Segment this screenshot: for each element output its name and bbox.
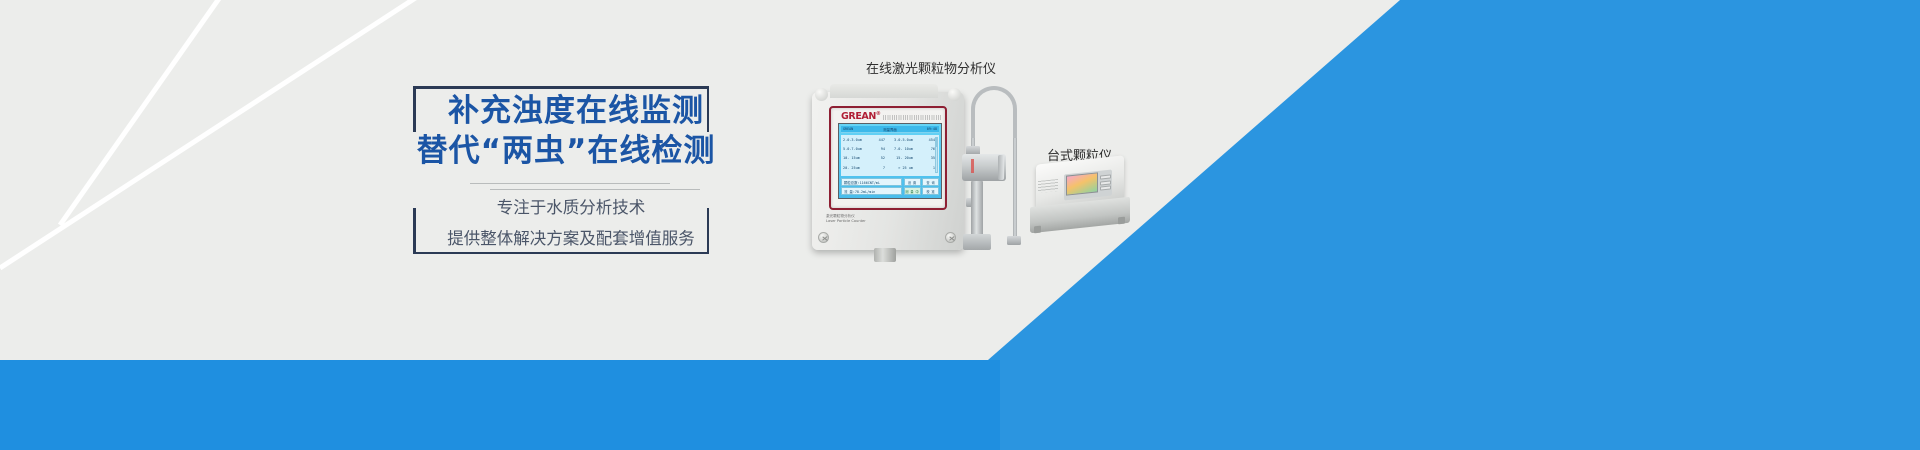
lcd-total-count-readout: 颗粒总数:1166CNT/mL: [841, 178, 902, 186]
cell-count-b: 454: [913, 136, 935, 145]
cell-range-a: 20- 25um: [843, 164, 869, 173]
cell-count-b: 76: [913, 145, 935, 154]
sensor-housing: [962, 154, 1006, 181]
wall-mount-analyzer-image: GREAN® GREAN 测量界面 09:48 2.0-3.0um 447 3.…: [812, 84, 964, 256]
cell-count-a: 7: [869, 164, 885, 173]
bench-foot-left: [1034, 226, 1041, 234]
bench-display-screen[interactable]: [1066, 172, 1098, 195]
cell-count-a: 447: [869, 136, 885, 145]
analyzer-lcd-screen[interactable]: GREAN 测量界面 09:48 2.0-3.0um 447 3.0-5.0um…: [838, 123, 942, 199]
lcd-title-bar: GREAN 测量界面 09:48: [841, 126, 939, 133]
table-row: 20- 25um 7 > 25 um 1: [843, 164, 937, 173]
lcd-title-mode: 测量界面: [883, 127, 897, 132]
lcd-footer: 颗粒总数:1166CNT/mL 设 置 查 询 流 量:78.2mL/min 测…: [841, 178, 939, 196]
headline-line-2: 替代“两虫”在线检测: [400, 132, 730, 172]
cell-range-b: 7.0- 10um: [885, 145, 913, 154]
lcd-measuring-status-badge[interactable]: 测 量 中: [904, 187, 921, 195]
registered-mark-icon: ®: [876, 111, 881, 117]
promo-banner: 补充浊度在线监测 替代“两虫”在线检测 专注于水质分析技术 提供整体解决方案及配…: [0, 0, 1920, 450]
sensor-stem: [971, 181, 983, 241]
table-row: 2.0-3.0um 447 3.0-5.0um 454: [843, 136, 937, 145]
analyzer-brand-logo: GREAN®: [841, 111, 881, 122]
analyzer-cable-gland: [874, 248, 896, 262]
cell-range-a: 5.0-7.0um: [843, 145, 869, 154]
tubing-downpipe: [1013, 138, 1017, 242]
lcd-scrollbar[interactable]: [935, 137, 938, 173]
headline: 补充浊度在线监测 替代“两虫”在线检测: [400, 92, 730, 171]
analyzer-front-bezel: GREAN® GREAN 测量界面 09:48 2.0-3.0um 447 3.…: [829, 106, 947, 210]
cell-count-b: 1: [913, 164, 935, 173]
lcd-footer-row-1: 颗粒总数:1166CNT/mL 设 置 查 询: [841, 178, 939, 186]
subtitle-line-2: 提供整体解决方案及配套增值服务: [405, 223, 725, 254]
lcd-settings-button[interactable]: 设 置: [904, 178, 921, 186]
bench-keypad[interactable]: [1100, 174, 1111, 193]
fitting-nut-bottom: [1007, 236, 1021, 245]
analyzer-knob-left: [815, 88, 828, 101]
analyzer-hatch-stripe: [883, 115, 941, 120]
cell-range-a: 10- 15um: [843, 154, 869, 163]
cell-range-b: > 25 um: [885, 164, 913, 173]
cell-range-b: 15- 20um: [885, 154, 913, 163]
cell-count-b: 35: [913, 154, 935, 163]
analyzer-nameplate: 激光颗粒物分析仪 Laser Particle Counter: [826, 214, 866, 224]
lcd-flow-rate-readout: 流 量:78.2mL/min: [841, 187, 902, 195]
sensor-tube-assembly-image: [955, 86, 1025, 256]
sensor-base-fitting: [963, 234, 991, 250]
cell-count-a: 94: [869, 145, 885, 154]
bench-foot-right: [1118, 217, 1125, 225]
lcd-footer-row-2: 流 量:78.2mL/min 测 量 中 校 准: [841, 187, 939, 195]
table-row: 5.0-7.0um 94 7.0- 10um 76: [843, 145, 937, 154]
cell-range-b: 3.0-5.0um: [885, 136, 913, 145]
benchtop-particle-counter-image: [1030, 160, 1130, 246]
cell-range-a: 2.0-3.0um: [843, 136, 869, 145]
table-row: 10- 15um 52 15- 20um 35: [843, 154, 937, 163]
headline-line-1: 补充浊度在线监测: [400, 92, 730, 132]
lcd-calibrate-button[interactable]: 校 准: [922, 187, 939, 195]
analyzer-nameplate-en: Laser Particle Counter: [826, 219, 866, 224]
subtitle-line-1: 专注于水质分析技术: [405, 192, 725, 223]
tubing-loop: [971, 86, 1017, 142]
cell-count-a: 52: [869, 154, 885, 163]
analyzer-brand-text: GREAN: [841, 111, 876, 122]
analyzer-screw-left: [818, 232, 829, 243]
analyzer-top-cap: [830, 84, 938, 98]
blue-bottom-band-left: [0, 360, 1000, 450]
subtitle: 专注于水质分析技术 提供整体解决方案及配套增值服务: [405, 192, 725, 255]
bench-vent-grille: [1038, 179, 1058, 193]
lcd-title-clock: 09:48: [927, 127, 937, 131]
label-online-laser-particle-analyzer: 在线激光颗粒物分析仪: [866, 58, 996, 77]
lcd-query-button[interactable]: 查 询: [922, 178, 939, 186]
lcd-measurement-table: 2.0-3.0um 447 3.0-5.0um 454 5.0-7.0um 94…: [841, 135, 939, 176]
lcd-title-brand: GREAN: [843, 127, 853, 131]
